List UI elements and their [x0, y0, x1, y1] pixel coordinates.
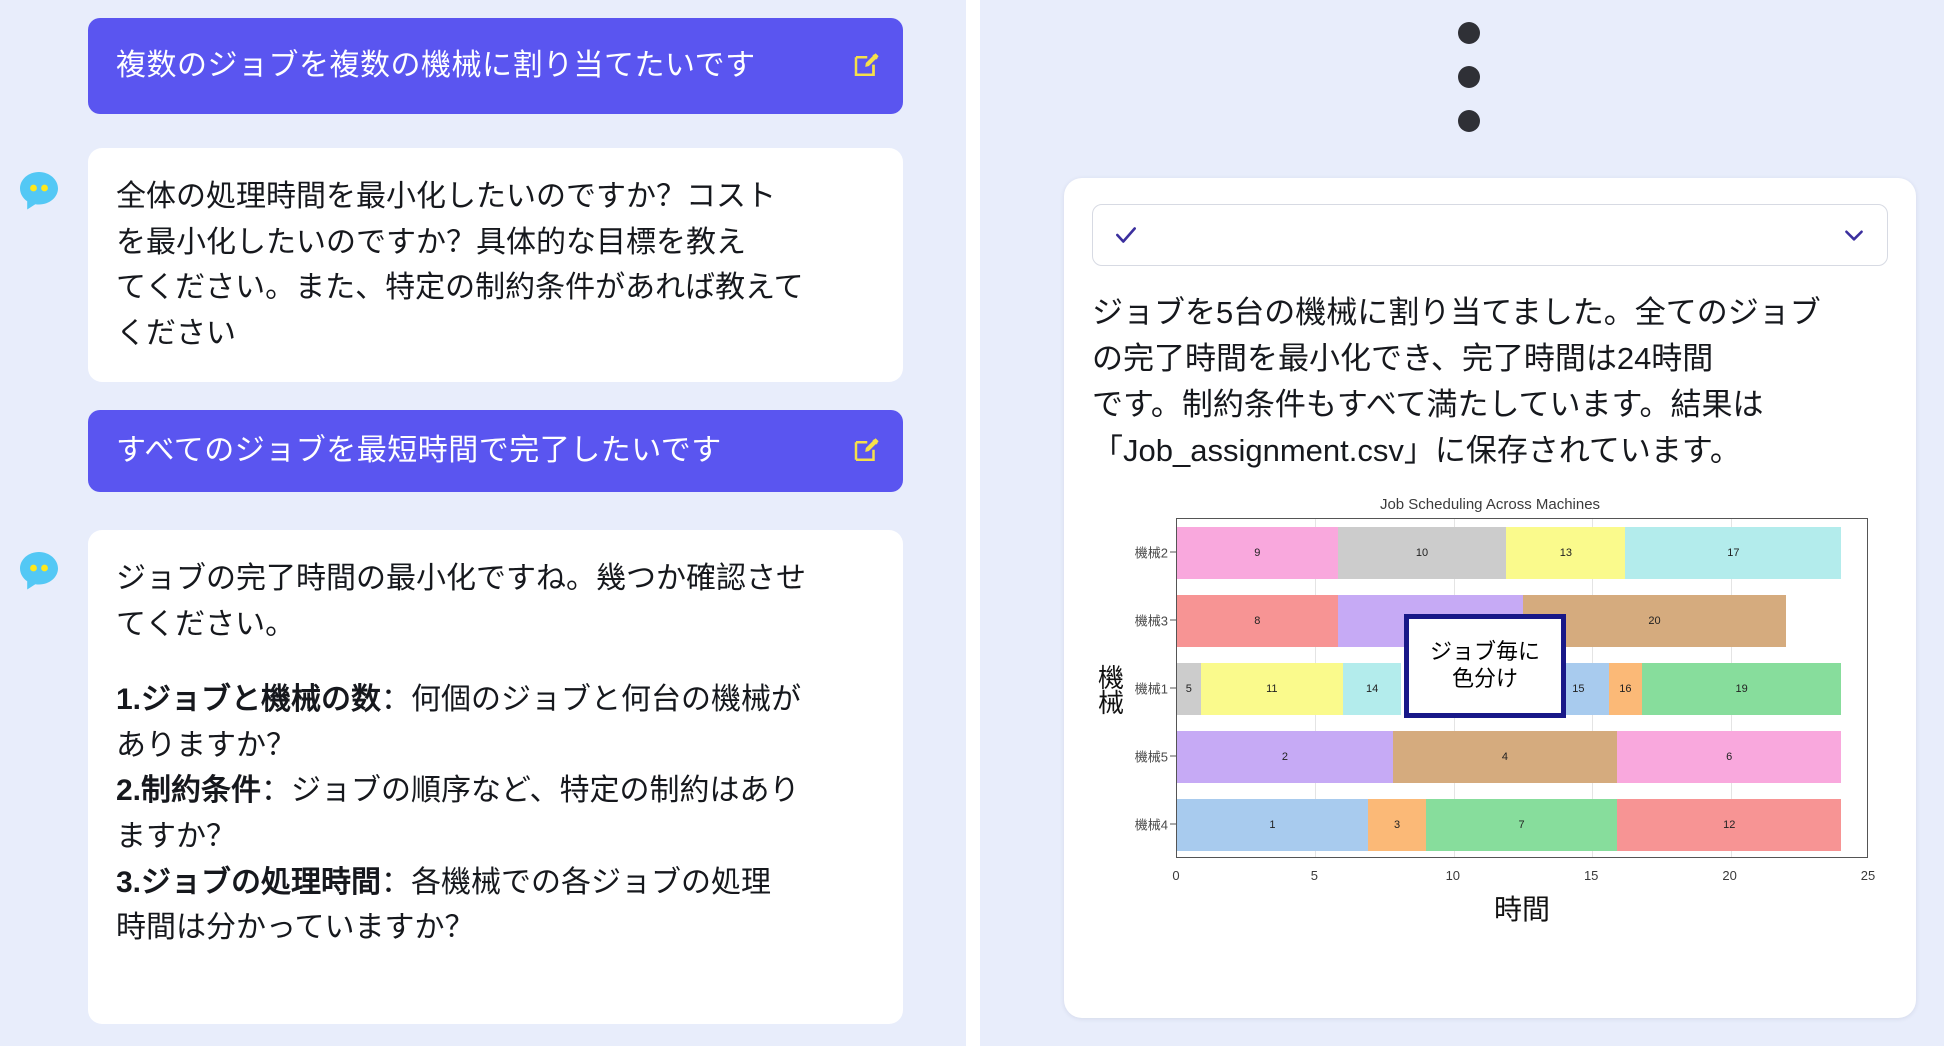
chart-y-tick: 機械1: [1135, 678, 1168, 697]
list-item-head: ジョブと機械の数: [141, 683, 381, 716]
list-item-head: ジョブの処理時間: [141, 866, 381, 899]
list-item-body: 何個のジョブと何台の機械が: [411, 683, 801, 716]
list-item-sep: ：: [381, 866, 411, 899]
chart-x-tick: 25: [1861, 868, 1875, 883]
bot-message-line: を最小化したいのですか？具体的な目標を教え: [116, 220, 875, 266]
chart-x-tick: 5: [1311, 868, 1318, 883]
list-item-head: 制約条件: [141, 774, 261, 807]
result-line: です。制約条件もすべて満たしています。結果は: [1092, 382, 1888, 428]
assistant-result-card: ジョブを5台の機械に割り当てました。全てのジョブ の完了時間を最小化でき、完了時…: [1064, 178, 1916, 1018]
gantt-bar: 17: [1625, 527, 1841, 579]
more-vertical-icon[interactable]: [1456, 22, 1482, 132]
annotation-line-2: 色分け: [1452, 666, 1518, 693]
chart-y-tick: 機械2: [1135, 542, 1168, 561]
bot-message-line: 全体の処理時間を最小化したいのですか？コスト: [116, 174, 875, 220]
chart-x-axis-label: 時間: [1176, 888, 1868, 928]
gantt-bar: 9: [1177, 527, 1338, 579]
user-message-text-1: 複数のジョブを複数の機械に割り当てたいです: [116, 48, 756, 84]
chart-y-tick: 機械4: [1135, 814, 1168, 833]
result-line: の完了時間を最小化でき、完了時間は24時間: [1092, 336, 1888, 382]
chevron-down-icon[interactable]: [1841, 222, 1867, 248]
list-item-body: 各機械での各ジョブの処理: [411, 866, 771, 899]
gantt-bar: 10: [1338, 527, 1507, 579]
paragraph-spacer: [116, 647, 875, 677]
edit-icon[interactable]: [851, 51, 881, 81]
bot-avatar-2: [16, 548, 62, 594]
result-line: ジョブを5台の機械に割り当てました。全てのジョブ: [1092, 290, 1888, 336]
assistant-result-text: ジョブを5台の機械に割り当てました。全てのジョブ の完了時間を最小化でき、完了時…: [1092, 290, 1888, 474]
list-item-number: 3.: [116, 866, 141, 899]
menu-dot: [1458, 110, 1480, 132]
chart-x-tick: 20: [1722, 868, 1736, 883]
list-item-number: 1.: [116, 683, 141, 716]
gantt-bar: 8: [1177, 595, 1338, 647]
chart-x-tick: 0: [1172, 868, 1179, 883]
check-icon: [1113, 222, 1139, 248]
gantt-bar: 19: [1642, 663, 1841, 715]
chart-y-tick: 機械5: [1135, 746, 1168, 765]
list-item-cont: ますか？: [116, 814, 875, 860]
gantt-bar: 16: [1609, 663, 1642, 715]
gantt-bar: 4: [1393, 731, 1617, 783]
user-message-bubble-1[interactable]: 複数のジョブを複数の機械に割り当てたいです: [88, 18, 903, 114]
gantt-bar: 2: [1177, 731, 1393, 783]
gantt-bar: 11: [1201, 663, 1344, 715]
chart-annotation-callout: ジョブ毎に 色分け: [1404, 614, 1566, 718]
chart-y-tick: 機械3: [1135, 610, 1168, 629]
result-line: 「Job_assignment.csv」に保存されています。: [1092, 428, 1888, 474]
gantt-bar: 1: [1177, 799, 1368, 851]
chart-x-tick: 10: [1446, 868, 1460, 883]
list-item-sep: ：: [261, 774, 291, 807]
gantt-chart: Job Scheduling Across Machines 機械 機械2機械3…: [1092, 496, 1888, 916]
list-item: 2.制約条件：ジョブの順序など、特定の制約はあり: [116, 768, 875, 814]
panel-divider: [966, 0, 980, 1046]
bot-message-line: てください。また、特定の制約条件があれば教えて: [116, 265, 875, 311]
gantt-bar: 13: [1506, 527, 1625, 579]
gantt-bar: 3: [1368, 799, 1426, 851]
chart-x-tick: 15: [1584, 868, 1598, 883]
gantt-bar: 14: [1343, 663, 1401, 715]
list-item-cont: ありますか？: [116, 723, 875, 769]
list-item-sep: ：: [381, 683, 411, 716]
bot-message-bubble-1: 全体の処理時間を最小化したいのですか？コスト を最小化したいのですか？具体的な目…: [88, 148, 903, 382]
bot-message-line: ください: [116, 311, 875, 357]
gantt-bar: 6: [1617, 731, 1841, 783]
edit-icon[interactable]: [851, 436, 881, 466]
list-item-cont: 時間は分かっていますか？: [116, 905, 875, 951]
list-item: 1.ジョブと機械の数：何個のジョブと何台の機械が: [116, 677, 875, 723]
app-screen: 複数のジョブを複数の機械に割り当てたいです 全体の処理時間を最小化したいのですか…: [0, 0, 1944, 1046]
annotation-line-1: ジョブ毎に: [1430, 639, 1540, 666]
gantt-bar: 12: [1617, 799, 1841, 851]
menu-dot: [1458, 22, 1480, 44]
status-select[interactable]: [1092, 204, 1888, 266]
right-chat-panel: ジョブを5台の機械に割り当てました。全てのジョブ の完了時間を最小化でき、完了時…: [972, 0, 1944, 1046]
list-item-number: 2.: [116, 774, 141, 807]
user-message-text-2: すべてのジョブを最短時間で完了したいです: [116, 433, 722, 469]
gantt-bar: 5: [1177, 663, 1201, 715]
chart-title: Job Scheduling Across Machines: [1092, 496, 1888, 513]
gantt-bar: 7: [1426, 799, 1617, 851]
bot-intro-line: てください。: [116, 602, 875, 648]
list-item: 3.ジョブの処理時間：各機械での各ジョブの処理: [116, 860, 875, 906]
bot-message-bubble-2: ジョブの完了時間の最小化ですね。幾つか確認させ てください。 1.ジョブと機械の…: [88, 530, 903, 1024]
list-item-body: ジョブの順序など、特定の制約はあり: [291, 774, 800, 807]
chart-y-tick-labels: 機械2機械3機械1機械5機械4: [1092, 518, 1168, 858]
user-message-bubble-2[interactable]: すべてのジョブを最短時間で完了したいです: [88, 410, 903, 492]
menu-dot: [1458, 66, 1480, 88]
bot-avatar-1: [16, 168, 62, 214]
left-chat-panel: 複数のジョブを複数の機械に割り当てたいです 全体の処理時間を最小化したいのですか…: [0, 0, 972, 1046]
bot-intro-line: ジョブの完了時間の最小化ですね。幾つか確認させ: [116, 556, 875, 602]
